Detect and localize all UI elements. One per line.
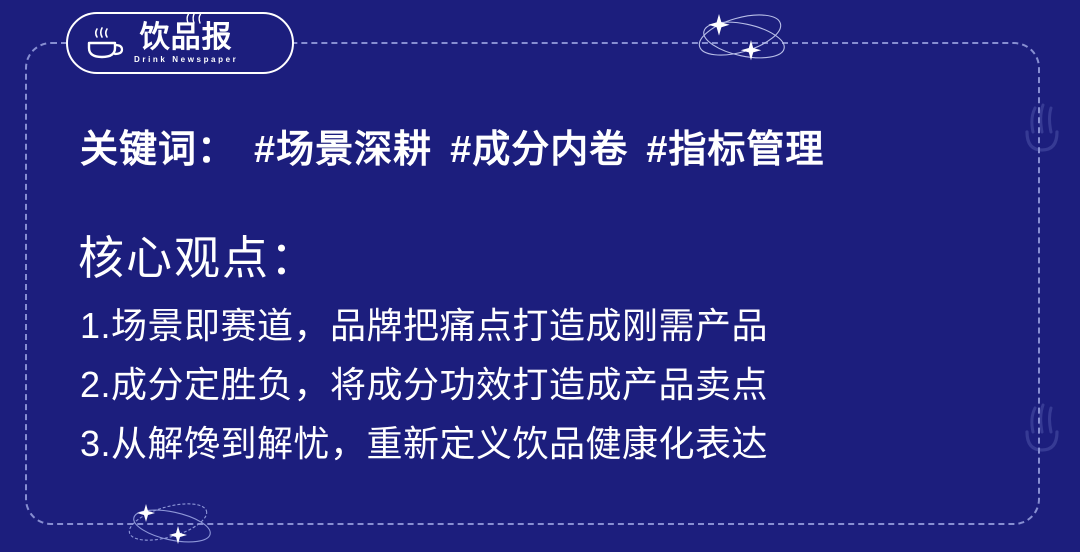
core-views-list: 1.场景即赛道，品牌把痛点打造成刚需产品 2.成分定胜负，将成分功效打造成产品卖…	[80, 296, 1000, 473]
steam-cup-watermark-icon	[1014, 98, 1070, 164]
logo-name-cn: 饮品报	[140, 23, 233, 53]
sparkle-rings-icon	[688, 2, 798, 74]
logo-text-block: 饮品报 Drink Newspaper	[134, 23, 238, 64]
keyword-tag-3[interactable]: #指标管理	[646, 129, 824, 171]
sparkle-rings-icon	[118, 496, 228, 552]
keyword-tag-1[interactable]: #场景深耕	[254, 129, 432, 171]
keywords-line: 关键词：#场景深耕#成分内卷#指标管理	[80, 118, 824, 173]
core-view-item: 2.成分定胜负，将成分功效打造成产品卖点	[80, 355, 1000, 414]
core-view-item: 3.从解馋到解忧，重新定义饮品健康化表达	[80, 414, 1000, 473]
keyword-tag-2[interactable]: #成分内卷	[450, 129, 628, 171]
logo-name-cn-text: 饮品报	[140, 21, 233, 54]
core-views-title: 核心观点：	[78, 222, 318, 288]
steam-cup-watermark-icon	[1014, 398, 1070, 464]
logo-name-en: Drink Newspaper	[134, 56, 238, 64]
slide-canvas: 饮品报 Drink Newspaper 关键词：#场景深耕#成分内卷#指标管理 …	[0, 0, 1080, 552]
coffee-cup-icon	[84, 23, 128, 63]
brand-logo[interactable]: 饮品报 Drink Newspaper	[66, 12, 294, 74]
core-view-item: 1.场景即赛道，品牌把痛点打造成刚需产品	[80, 296, 1000, 355]
keywords-label: 关键词：	[80, 129, 236, 171]
steam-icon	[184, 12, 204, 24]
